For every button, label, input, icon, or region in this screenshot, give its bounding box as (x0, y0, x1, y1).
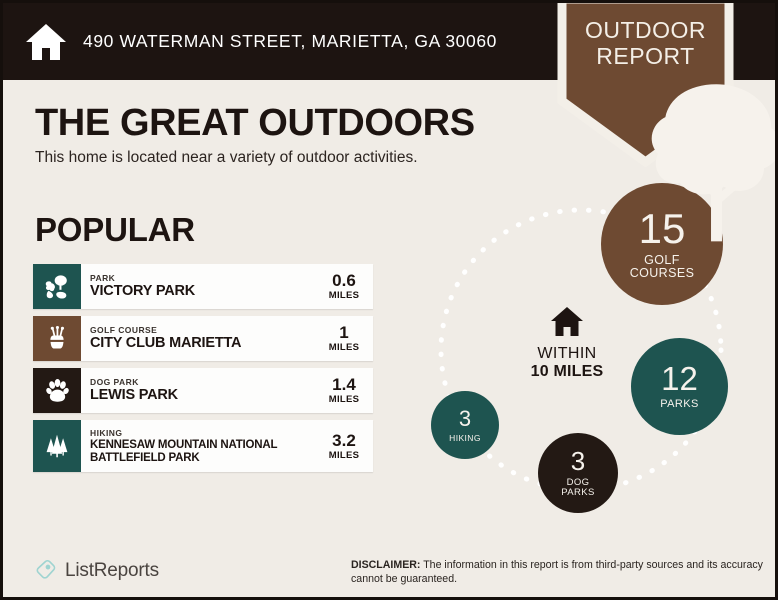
golf-bag-icon (33, 316, 81, 361)
list-item-name: LEWIS PARK (90, 388, 321, 404)
list-item[interactable]: DOG PARK LEWIS PARK 1.4 MILES (33, 368, 373, 413)
bubble-label-line2: COURSES (630, 266, 695, 280)
list-item-text: PARK VICTORY PARK (81, 264, 321, 309)
list-item-distance: 0.6 MILES (321, 264, 373, 309)
popular-list: PARK VICTORY PARK 0.6 MILES (33, 264, 373, 479)
bubble-count: 3 (459, 408, 471, 430)
within-label-line2: 10 MILES (499, 363, 635, 381)
tree-icon (625, 77, 667, 123)
pine-trees-icon (33, 420, 81, 472)
paw-print-icon (33, 368, 81, 413)
section-heading-popular: POPULAR (35, 211, 195, 249)
bubble-label: PARKS (660, 399, 698, 410)
diagram-center: WITHIN 10 MILES (499, 306, 635, 381)
list-item-text: GOLF COURSE CITY CLUB MARIETTA (81, 316, 321, 361)
list-item-name: CITY CLUB MARIETTA (90, 336, 321, 352)
disclaimer: DISCLAIMER: The information in this repo… (351, 559, 765, 586)
distance-unit: MILES (329, 394, 360, 405)
bubble-label-line2: PARKS (561, 487, 595, 498)
outdoor-report-badge: OUTDOOR REPORT (554, 0, 737, 167)
list-item-distance: 1 MILES (321, 316, 373, 361)
list-item-text: HIKING KENNESAW MOUNTAIN NATIONAL BATTLE… (81, 420, 321, 472)
page-subtitle: This home is located near a variety of o… (35, 149, 418, 167)
bubble-count: 3 (571, 448, 585, 474)
home-icon (25, 22, 67, 62)
listreports-house-icon (34, 559, 57, 582)
page-title: THE GREAT OUTDOORS (35, 102, 475, 145)
bubble-hiking[interactable]: 3 HIKING (431, 391, 499, 459)
home-icon (550, 306, 584, 337)
list-item[interactable]: HIKING KENNESAW MOUNTAIN NATIONAL BATTLE… (33, 420, 373, 472)
distance-value: 0.6 (332, 272, 356, 290)
list-item[interactable]: GOLF COURSE CITY CLUB MARIETTA 1 MILES (33, 316, 373, 361)
distance-unit: MILES (329, 290, 360, 301)
distance-value: 1 (339, 324, 348, 342)
property-address: 490 WATERMAN STREET, MARIETTA, GA 30060 (83, 31, 497, 52)
list-item-category: HIKING (90, 428, 321, 439)
park-tree-icon (33, 264, 81, 309)
listreports-logo[interactable]: ListReports (34, 559, 159, 582)
bubble-parks[interactable]: 12 PARKS (631, 338, 728, 435)
bubble-label: DOG PARKS (561, 478, 595, 497)
listreports-wordmark: ListReports (65, 560, 159, 582)
list-item-distance: 1.4 MILES (321, 368, 373, 413)
distance-value: 1.4 (332, 376, 356, 394)
outdoor-report-page: 490 WATERMAN STREET, MARIETTA, GA 30060 … (0, 0, 778, 600)
list-item[interactable]: PARK VICTORY PARK 0.6 MILES (33, 264, 373, 309)
list-item-text: DOG PARK LEWIS PARK (81, 368, 321, 413)
within-label-line1: WITHIN (499, 345, 635, 363)
list-item-distance: 3.2 MILES (321, 420, 373, 472)
list-item-name: KENNESAW MOUNTAIN NATIONAL BATTLEFIELD P… (90, 439, 321, 465)
distance-unit: MILES (329, 450, 360, 461)
distance-unit: MILES (329, 342, 360, 353)
bubble-label: GOLF COURSES (630, 254, 695, 280)
distance-value: 3.2 (332, 432, 356, 450)
bubble-label: HIKING (449, 434, 481, 443)
bubble-dog-parks[interactable]: 3 DOG PARKS (538, 433, 618, 513)
list-item-name: VICTORY PARK (90, 284, 321, 300)
bubble-count: 12 (661, 362, 698, 395)
disclaimer-label: DISCLAIMER: (351, 559, 420, 571)
